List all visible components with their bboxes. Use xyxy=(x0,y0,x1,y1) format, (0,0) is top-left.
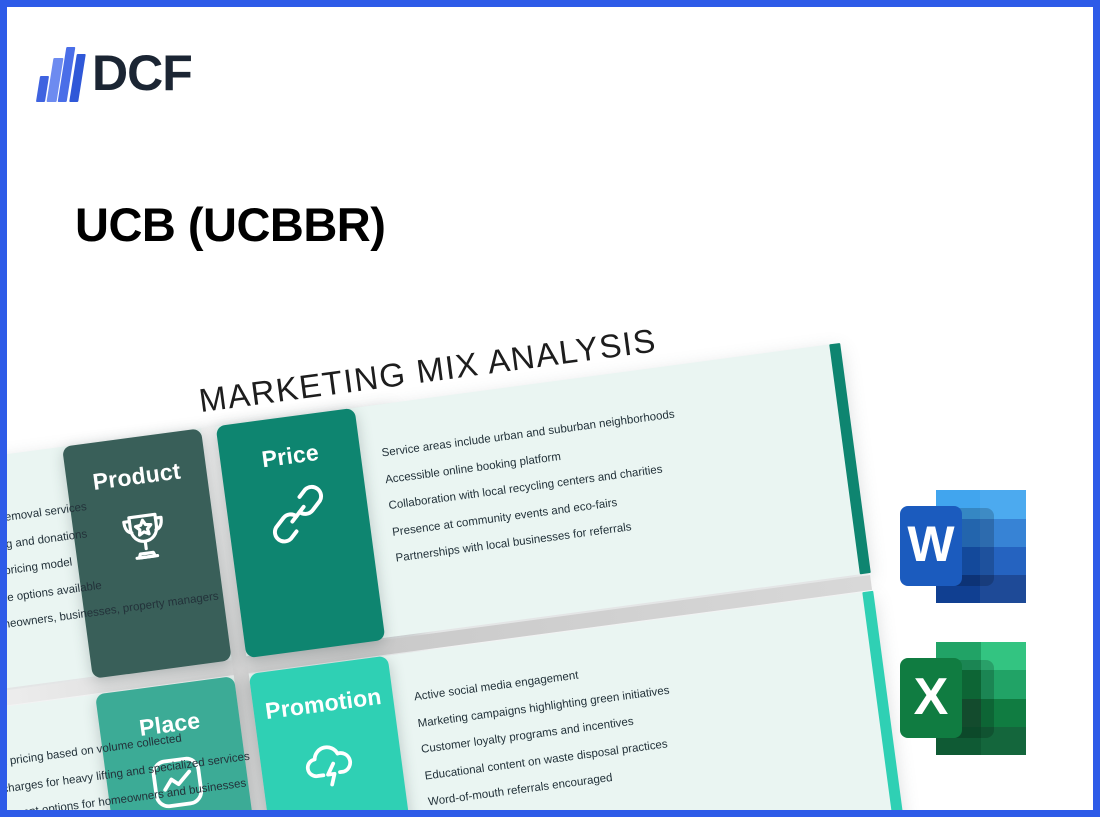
slide-page: DCF UCB (UCBBR) MARKETING MIX ANALYSIS P… xyxy=(0,0,1100,817)
word-document-icon[interactable]: W xyxy=(900,490,1026,603)
excel-spreadsheet-icon[interactable]: X xyxy=(900,642,1026,755)
quadrant-grid: Product Price xyxy=(0,343,903,817)
brand-logo[interactable]: DCF xyxy=(38,40,192,102)
marketing-mix-slide: MARKETING MIX ANALYSIS Product xyxy=(0,296,903,817)
brand-name: DCF xyxy=(92,48,192,102)
quadrant-price-label: Price xyxy=(219,434,361,479)
bar-chart-logo-icon xyxy=(38,46,82,102)
link-chain-icon xyxy=(264,480,331,547)
cloud-lightning-icon xyxy=(297,728,364,795)
quadrant-promotion-label: Promotion xyxy=(252,681,394,726)
svg-text:W: W xyxy=(907,516,955,572)
svg-text:X: X xyxy=(914,668,949,726)
page-title: UCB (UCBBR) xyxy=(75,197,385,252)
